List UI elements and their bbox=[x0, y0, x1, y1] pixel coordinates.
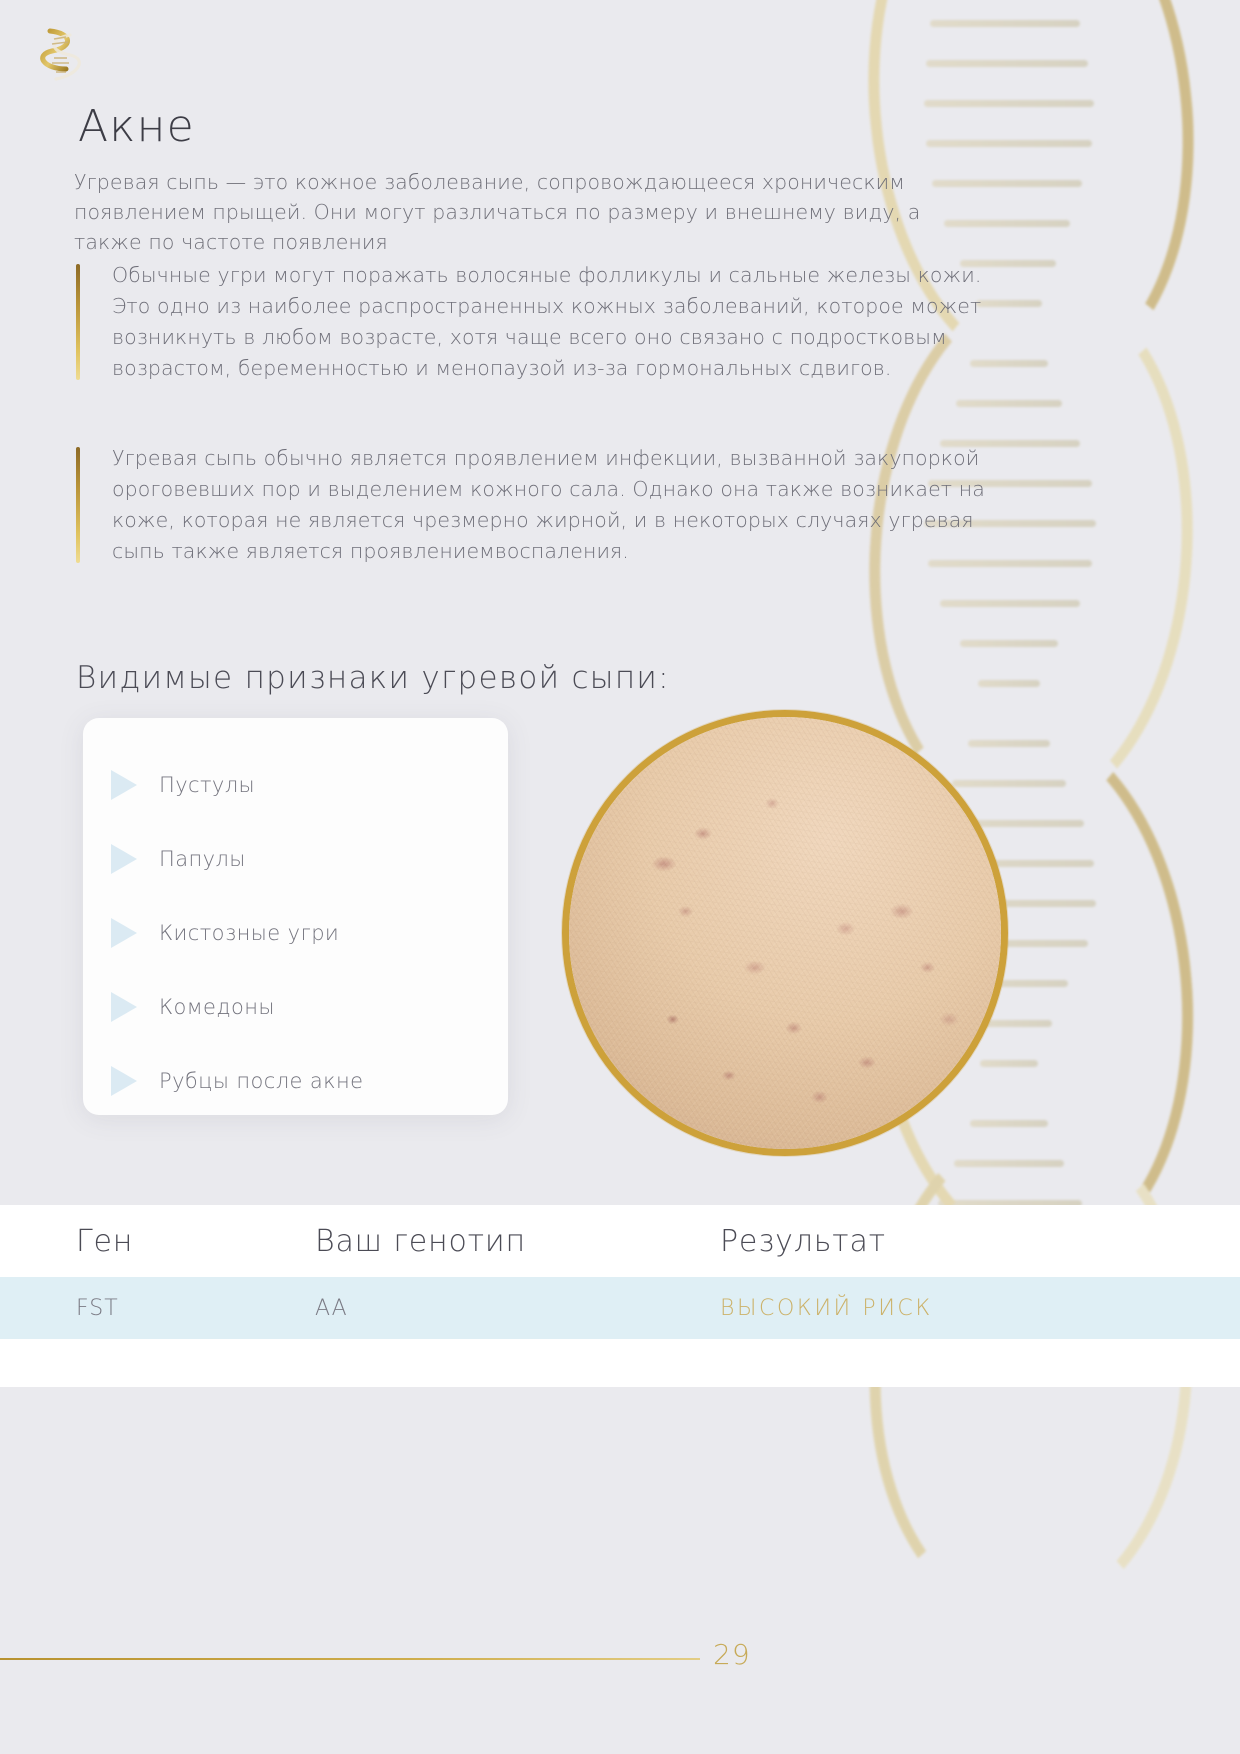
dna-helix-icon bbox=[40, 25, 86, 91]
list-item: Рубцы после акне bbox=[83, 1044, 508, 1118]
quote-block-1: Обычные угри могут поражать волосяные фо… bbox=[76, 260, 992, 384]
sign-label: Пустулы bbox=[159, 773, 255, 797]
page-title: Акне bbox=[78, 105, 195, 149]
column-header-result: Результат bbox=[720, 1224, 1240, 1259]
acne-skin-closeup-photo bbox=[562, 710, 1008, 1156]
list-item: Папулы bbox=[83, 822, 508, 896]
triangle-bullet-icon bbox=[111, 992, 137, 1022]
cell-genotype: AA bbox=[315, 1296, 720, 1321]
triangle-bullet-icon bbox=[111, 918, 137, 948]
sign-label: Комедоны bbox=[159, 995, 275, 1019]
report-page: Акне Угревая сыпь — это кожное заболеван… bbox=[0, 0, 1240, 1754]
triangle-bullet-icon bbox=[111, 1066, 137, 1096]
list-item: Кистозные угри bbox=[83, 896, 508, 970]
quote-block-2: Угревая сыпь обычно является проявлением… bbox=[76, 443, 992, 567]
intro-paragraph: Угревая сыпь — это кожное заболевание, с… bbox=[74, 167, 954, 257]
skin-texture-overlay bbox=[569, 717, 1001, 1149]
table-footer-strip bbox=[0, 1339, 1240, 1387]
table-row: FST AA ВЫСОКИЙ РИСК bbox=[0, 1277, 1240, 1339]
footer-divider bbox=[0, 1658, 700, 1660]
visible-signs-card: Пустулы Папулы Кистозные угри Комедоны Р… bbox=[83, 718, 508, 1115]
cell-gene: FST bbox=[0, 1296, 315, 1321]
gene-result-table: Ген Ваш генотип Результат FST AA ВЫСОКИЙ… bbox=[0, 1205, 1240, 1387]
list-item: Пустулы bbox=[83, 748, 508, 822]
list-item: Комедоны bbox=[83, 970, 508, 1044]
table-header-row: Ген Ваш генотип Результат bbox=[0, 1205, 1240, 1277]
signs-section-heading: Видимые признаки угревой сыпи: bbox=[76, 660, 670, 696]
status-badge: ВЫСОКИЙ РИСК bbox=[720, 1296, 1240, 1321]
page-number: 29 bbox=[713, 1638, 751, 1671]
triangle-bullet-icon bbox=[111, 770, 137, 800]
sign-label: Кистозные угри bbox=[159, 921, 339, 945]
sign-label: Папулы bbox=[159, 847, 246, 871]
column-header-gene: Ген bbox=[0, 1224, 315, 1259]
column-header-genotype: Ваш генотип bbox=[315, 1224, 720, 1259]
sign-label: Рубцы после акне bbox=[159, 1069, 364, 1093]
triangle-bullet-icon bbox=[111, 844, 137, 874]
signs-list: Пустулы Папулы Кистозные угри Комедоны Р… bbox=[83, 718, 508, 1118]
